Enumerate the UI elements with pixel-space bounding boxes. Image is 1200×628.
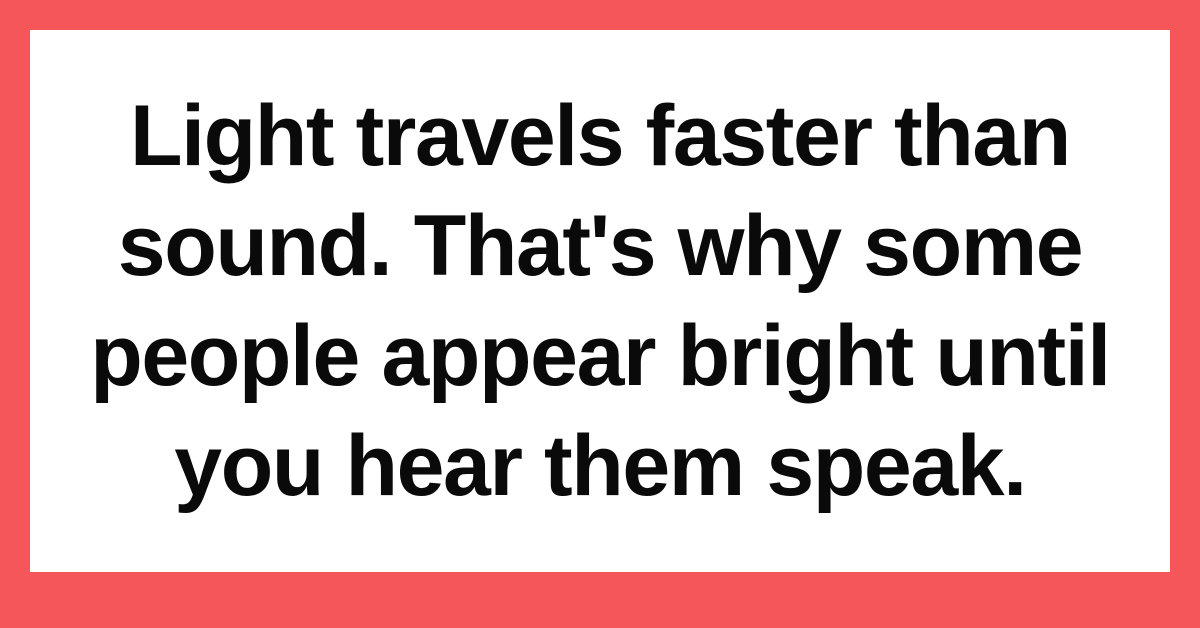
quote-text: Light travels faster than sound. That's … xyxy=(30,81,1170,521)
quote-panel: Light travels faster than sound. That's … xyxy=(30,30,1170,572)
quote-line-3: people appear bright until xyxy=(36,301,1164,411)
quote-line-1: Light travels faster than xyxy=(36,81,1164,191)
quote-line-4: you hear them speak. xyxy=(36,411,1164,521)
quote-line-2: sound. That's why some xyxy=(36,191,1164,301)
quote-card: Light travels faster than sound. That's … xyxy=(0,0,1200,628)
